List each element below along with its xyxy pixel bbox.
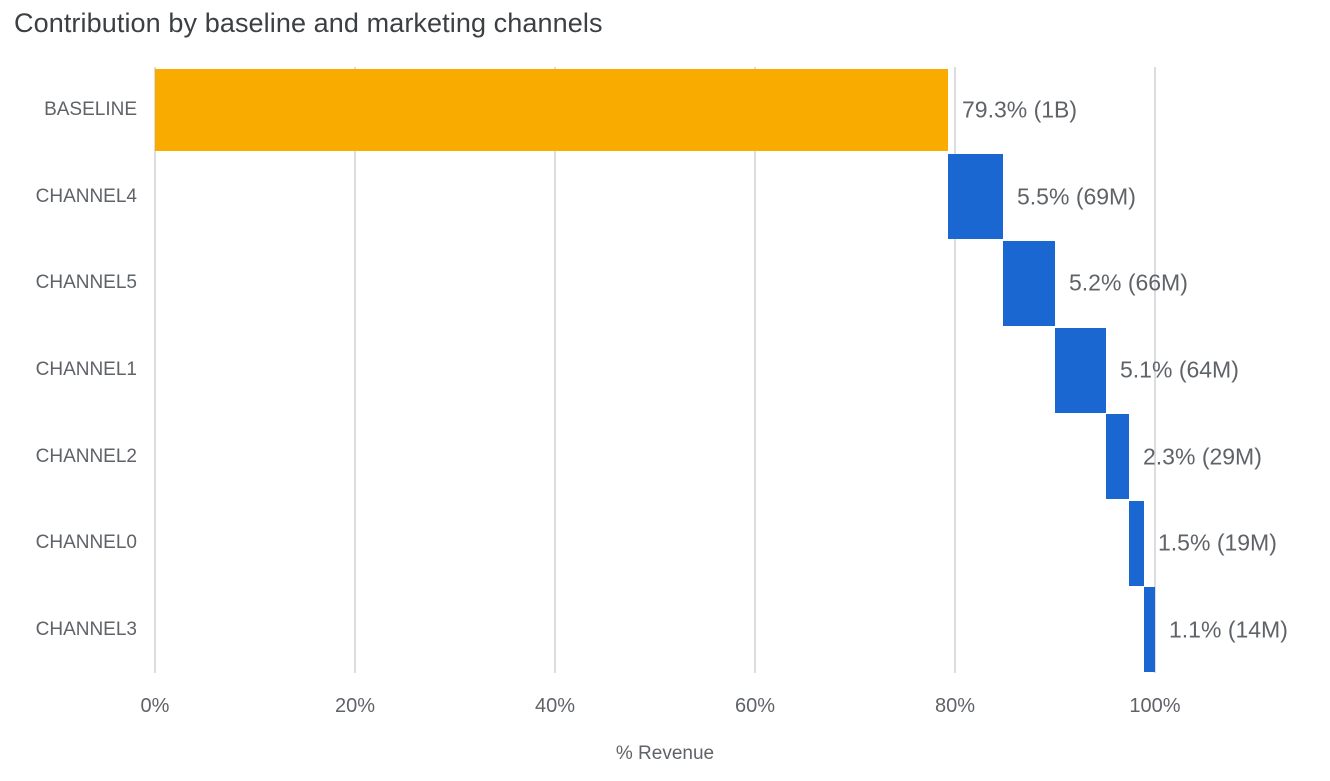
y-axis-label-channel0: CHANNEL0 (0, 532, 137, 554)
bar-channel4[interactable] (948, 154, 1003, 239)
x-tick-label-80pct: 80% (935, 695, 975, 718)
y-axis-label-baseline: BASELINE (0, 99, 137, 121)
bar-channel3[interactable] (1144, 587, 1155, 672)
bar-baseline[interactable] (155, 69, 948, 151)
data-label-channel5: 5.2% (66M) (1069, 270, 1188, 297)
data-label-channel1: 5.1% (64M) (1120, 357, 1239, 384)
bar-channel1[interactable] (1055, 328, 1106, 413)
waterfall-chart: Contribution by baseline and marketing c… (0, 0, 1330, 781)
x-tick-label-0pct: 0% (141, 695, 170, 718)
y-axis-label-channel3: CHANNEL3 (0, 619, 137, 641)
bar-channel0[interactable] (1129, 501, 1144, 586)
gridline-60pct (754, 67, 756, 673)
data-label-channel3: 1.1% (14M) (1169, 616, 1288, 643)
data-label-channel2: 2.3% (29M) (1143, 443, 1262, 470)
x-axis-title: % Revenue (0, 743, 1330, 765)
gridline-40pct (554, 67, 556, 673)
y-axis-label-channel5: CHANNEL5 (0, 272, 137, 294)
x-tick-label-20pct: 20% (335, 695, 375, 718)
plot-area: 79.3% (1B)5.5% (69M)5.2% (66M)5.1% (64M)… (155, 67, 1155, 673)
x-axis: 0%20%40%60%80%100% (155, 673, 1155, 733)
x-tick-label-100pct: 100% (1129, 695, 1180, 718)
bar-channel5[interactable] (1003, 241, 1055, 326)
data-label-baseline: 79.3% (1B) (962, 97, 1077, 124)
y-axis-label-channel2: CHANNEL2 (0, 446, 137, 468)
y-axis-label-channel1: CHANNEL1 (0, 359, 137, 381)
chart-title: Contribution by baseline and marketing c… (14, 8, 603, 39)
y-axis: BASELINECHANNEL4CHANNEL5CHANNEL1CHANNEL2… (0, 67, 137, 673)
x-tick-label-40pct: 40% (535, 695, 575, 718)
x-tick-label-60pct: 60% (735, 695, 775, 718)
data-label-channel4: 5.5% (69M) (1017, 183, 1136, 210)
data-label-channel0: 1.5% (19M) (1158, 530, 1277, 557)
gridline-20pct (354, 67, 356, 673)
y-axis-label-channel4: CHANNEL4 (0, 186, 137, 208)
bar-channel2[interactable] (1106, 414, 1129, 499)
gridline-0pct (154, 67, 156, 673)
